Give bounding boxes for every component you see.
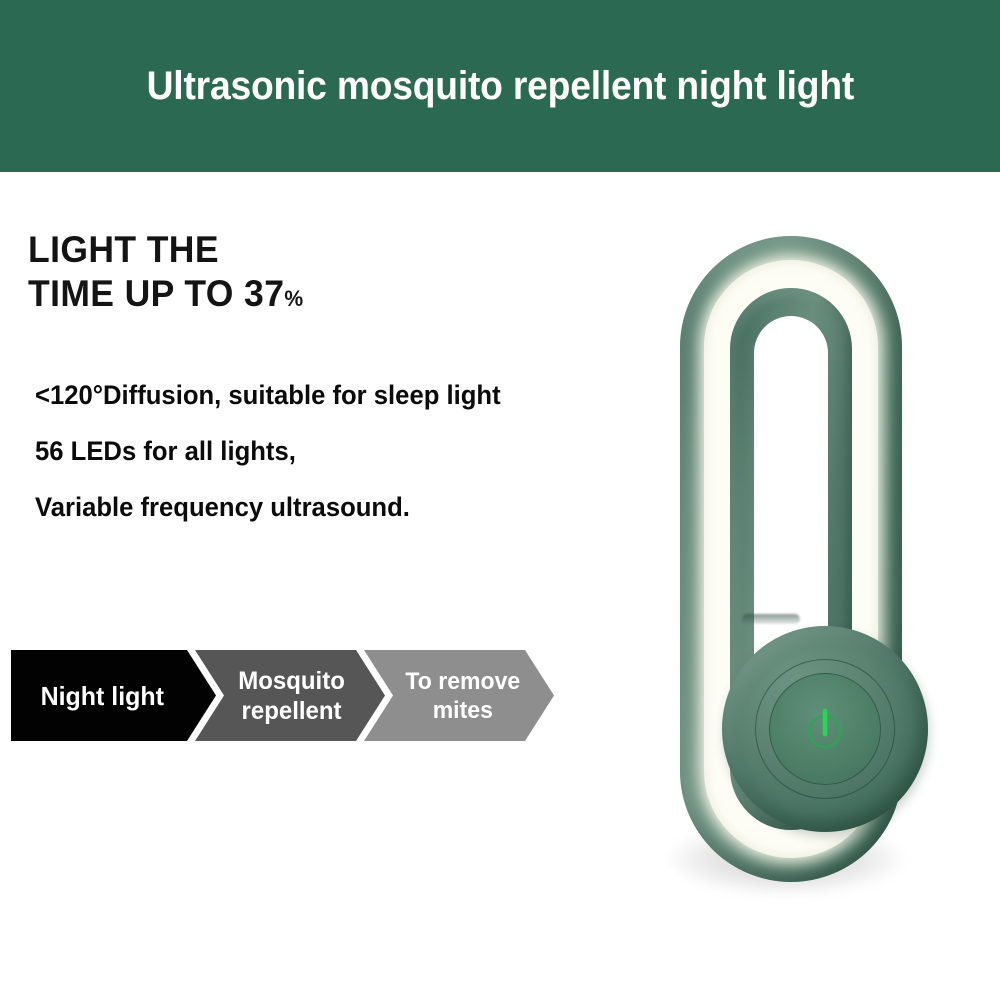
mode-label-remove-mites-line-1: To remove: [406, 668, 521, 695]
mode-label-mosquito-repellent-line-1: Mosquito: [239, 667, 346, 695]
percent-symbol: %: [284, 286, 303, 311]
headline: LIGHT THE TIME UP TO 37%: [28, 228, 642, 321]
marketing-copy-block: LIGHT THE TIME UP TO 37% <120°Diffusion,…: [28, 228, 668, 535]
mode-chevron-mosquito-repellent: Mosquito repellent: [195, 650, 385, 741]
page-title: Ultrasonic mosquito repellent night ligh…: [146, 64, 853, 109]
mode-label-night-light: Night light: [41, 681, 164, 711]
headline-line-2: TIME UP TO 37%: [28, 272, 642, 321]
product-seam: [742, 614, 800, 624]
hub-inner-face: [769, 673, 881, 785]
mode-label-remove-mites: To remove mites: [406, 667, 521, 725]
product-control-hub: [722, 626, 928, 832]
power-icon: [798, 701, 852, 755]
header-banner: Ultrasonic mosquito repellent night ligh…: [0, 0, 1000, 172]
mode-label-mosquito-repellent-line-2: repellent: [242, 697, 342, 725]
headline-line-2-text: TIME UP TO 37: [28, 273, 284, 314]
mode-chevron-remove-mites: To remove mites: [364, 650, 554, 741]
modes-banner: Night light Mosquito repellent To remove…: [11, 650, 554, 741]
feature-list: <120°Diffusion, suitable for sleep light…: [28, 367, 668, 535]
feature-item-leds: 56 LEDs for all lights,: [35, 423, 636, 479]
headline-line-1: LIGHT THE: [28, 228, 642, 272]
feature-item-diffusion: <120°Diffusion, suitable for sleep light: [35, 367, 636, 423]
mode-label-remove-mites-line-2: mites: [433, 697, 493, 724]
mode-label-mosquito-repellent: Mosquito repellent: [239, 666, 346, 726]
mode-chevron-night-light: Night light: [11, 650, 216, 741]
feature-item-ultrasound: Variable frequency ultrasound.: [35, 479, 636, 535]
product-image: [660, 230, 920, 910]
